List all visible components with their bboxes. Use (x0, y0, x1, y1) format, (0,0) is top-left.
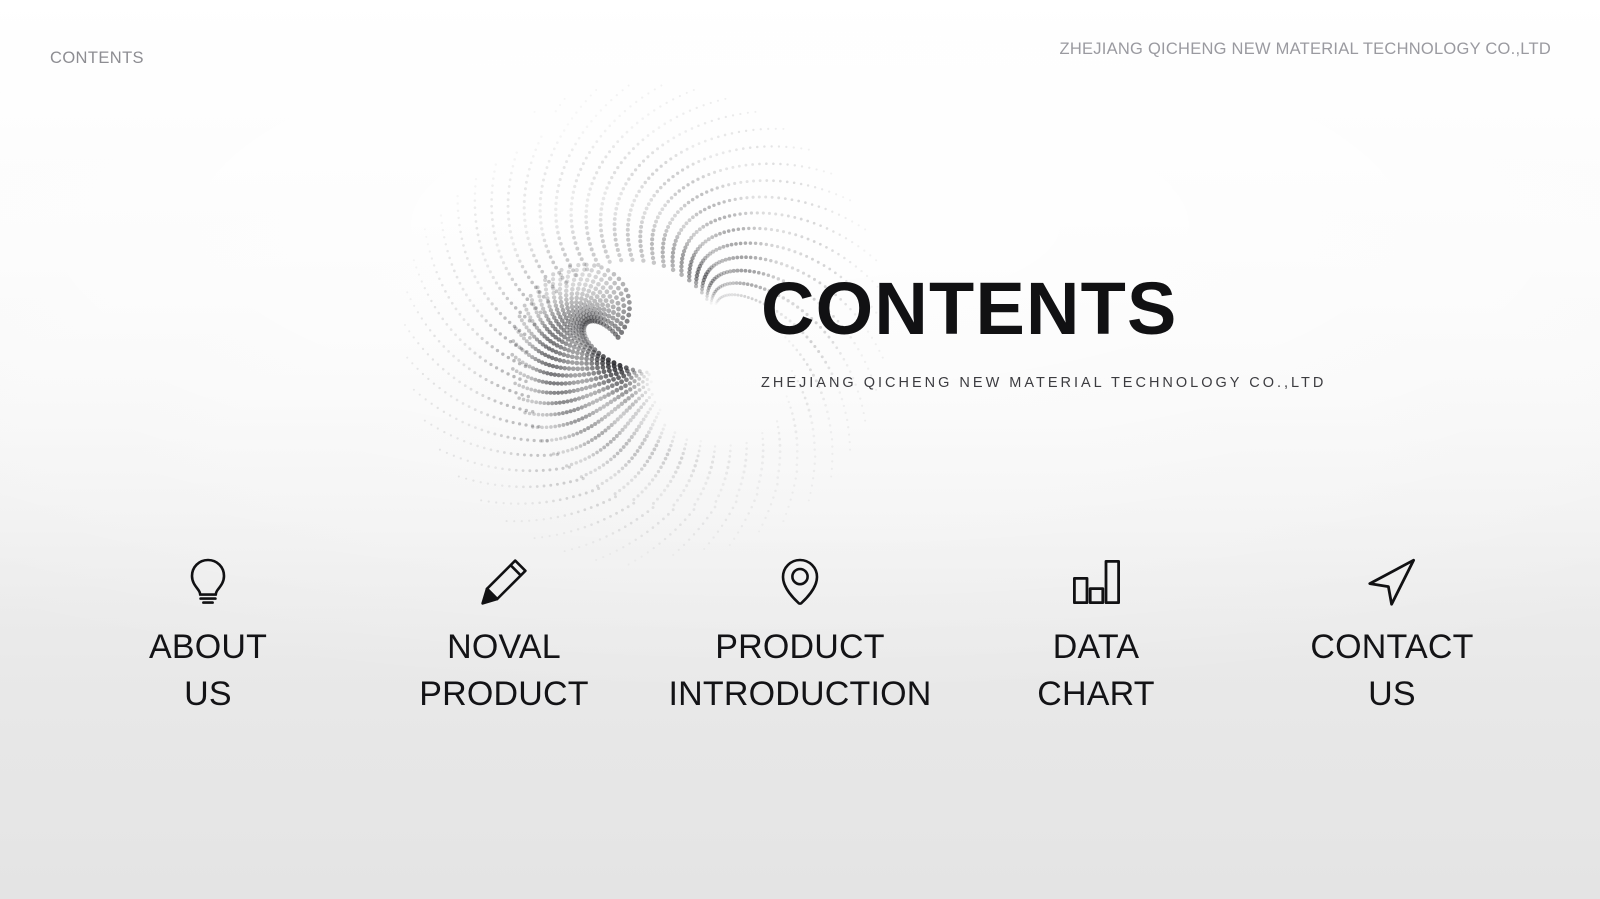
contents-item-noval-product[interactable]: NOVAL PRODUCT (356, 556, 652, 718)
contents-item-contact-us[interactable]: CONTACT US (1244, 556, 1540, 718)
lightbulb-icon (186, 556, 230, 608)
contents-item-list: ABOUT US NOVAL PRODUCT PRODUCT INTRODUCT… (60, 556, 1540, 718)
bar-chart-icon (1072, 556, 1120, 608)
contents-item-label: DATA CHART (1037, 624, 1155, 718)
contents-item-label: PRODUCT INTRODUCTION (668, 624, 931, 718)
header-section-label: CONTENTS (50, 49, 144, 68)
contents-item-about-us[interactable]: ABOUT US (60, 556, 356, 718)
contents-item-product-introduction[interactable]: PRODUCT INTRODUCTION (652, 556, 948, 718)
map-pin-icon (780, 556, 820, 608)
contents-item-label: NOVAL PRODUCT (419, 624, 589, 718)
page-subtitle: ZHEJIANG QICHENG NEW MATERIAL TECHNOLOGY… (761, 375, 1521, 391)
contents-item-data-chart[interactable]: DATA CHART (948, 556, 1244, 718)
slide-canvas: CONTENTS ZHEJIANG QICHENG NEW MATERIAL T… (0, 0, 1600, 899)
contents-item-label: ABOUT US (149, 624, 267, 718)
hero-block: CONTENTS ZHEJIANG QICHENG NEW MATERIAL T… (761, 272, 1521, 391)
pencil-icon (479, 556, 529, 608)
send-arrow-icon (1367, 556, 1417, 608)
contents-item-label: CONTACT US (1310, 624, 1473, 718)
header-company-name: ZHEJIANG QICHENG NEW MATERIAL TECHNOLOGY… (1060, 40, 1551, 59)
page-title: CONTENTS (761, 272, 1521, 346)
